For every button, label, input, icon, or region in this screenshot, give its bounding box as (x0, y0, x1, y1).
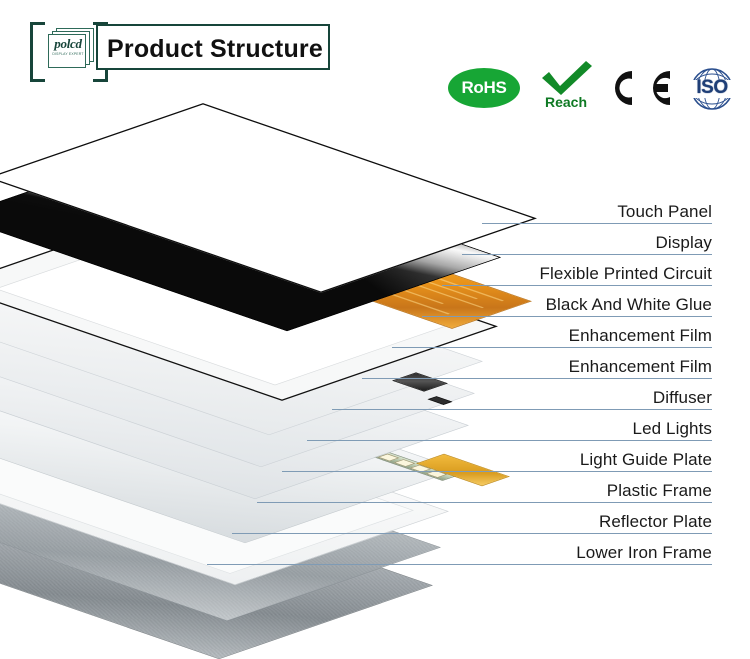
callout-label: Touch Panel (617, 202, 712, 222)
callout-label: Plastic Frame (607, 481, 712, 501)
product-structure-diagram: polcd DISPLAY EXPERT Product Structure R… (0, 0, 750, 622)
callout-label: Flexible Printed Circuit (540, 264, 712, 284)
callout-label: Diffuser (653, 388, 712, 408)
callout-label: Lower Iron Frame (576, 543, 712, 563)
callout-labels: Touch Panel Display Flexible Printed Cir… (0, 0, 750, 622)
callout-label: Light Guide Plate (580, 450, 712, 470)
callout-label: Led Lights (633, 419, 712, 439)
callout-label: Display (656, 233, 712, 253)
callout-label: Enhancement Film (569, 326, 712, 346)
callout-label: Enhancement Film (569, 357, 712, 377)
callout-label: Black And White Glue (546, 295, 712, 315)
callout-label: Reflector Plate (599, 512, 712, 532)
